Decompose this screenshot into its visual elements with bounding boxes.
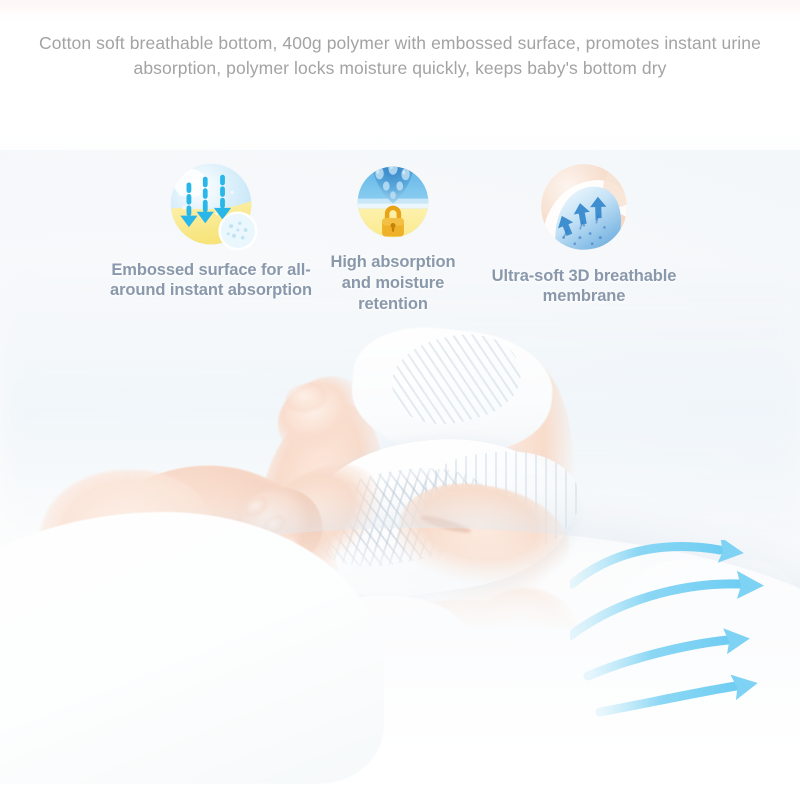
product-feature-image: Cotton soft breathable bottom, 400g poly… bbox=[0, 0, 800, 800]
feature-item-embossed-surface[interactable]: Embossed surface for all-around instant … bbox=[96, 158, 326, 300]
breathable-membrane-icon bbox=[533, 156, 635, 258]
feature-caption: Embossed surface for all-around instant … bbox=[96, 260, 326, 300]
padlock-moisture-icon bbox=[351, 160, 435, 244]
feature-caption: Ultra-soft 3D breathable membrane bbox=[470, 266, 698, 306]
baby-toes bbox=[286, 384, 330, 414]
feature-item-breathable-membrane[interactable]: Ultra-soft 3D breathable membrane bbox=[470, 156, 698, 306]
feature-list: Embossed surface for all-around instant … bbox=[0, 150, 800, 350]
feature-caption: High absorption and moisture retention bbox=[318, 252, 468, 315]
absorption-arrows-icon bbox=[163, 158, 259, 254]
feature-item-high-absorption[interactable]: High absorption and moisture retention bbox=[318, 160, 468, 315]
page-title: Cotton soft breathable bottom, 400g poly… bbox=[0, 31, 800, 81]
